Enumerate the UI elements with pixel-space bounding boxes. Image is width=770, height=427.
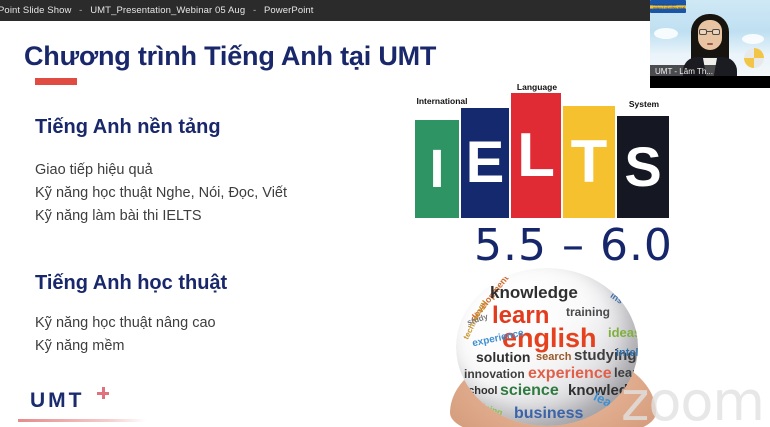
word-cloud-word: ins (609, 291, 625, 306)
eyeglasses-left-lens-icon (699, 29, 707, 35)
umt-logo-text: UMT (30, 389, 85, 413)
participant-mouth (707, 43, 713, 45)
umt-plus-icon (97, 387, 109, 399)
video-tile-bottom-bar (650, 76, 770, 88)
ielts-letter-block-l: L (511, 93, 561, 218)
word-cloud-word: innovation (464, 368, 525, 380)
taskbar-file-name: UMT_Presentation_Webinar 05 Aug (90, 5, 245, 16)
word-cloud-word: science (500, 383, 559, 399)
bullet-item: Giao tiếp hiệu quả (35, 159, 287, 182)
cloud-shape (742, 34, 764, 44)
taskbar-app-name: PowerPoint (264, 5, 314, 16)
screen-root: Point Slide Show - UMT_Presentation_Webi… (0, 0, 770, 427)
ielts-caption-language: Language (501, 82, 573, 92)
virtual-background-left-banner: TRƯỜNG ĐẠI HỌC QUẢN LÝ VÀ CÔNG NGHỆ (653, 4, 685, 10)
word-cloud-word: training (566, 306, 610, 318)
word-cloud-word: business (514, 406, 583, 422)
zoom-participant-video-tile[interactable]: TRƯỜNG ĐẠI HỌC QUẢN LÝ VÀ CÔNG NGHỆ UMT … (650, 0, 770, 88)
taskbar-app-window-prefix: Point Slide Show (0, 5, 71, 16)
zoom-watermark: zoom (621, 370, 764, 427)
section-bullets-foundation: Giao tiếp hiệu quả Kỹ năng học thuật Ngh… (35, 159, 287, 228)
bullet-item: Kỹ năng làm bài thi IELTS (35, 205, 287, 228)
bullet-item: Kỹ năng mềm (35, 335, 216, 358)
bullet-item: Kỹ năng học thuật Nghe, Nói, Đọc, Viết (35, 182, 287, 205)
participant-face (698, 20, 722, 50)
eyeglasses-bridge-icon (707, 31, 712, 32)
word-cloud-word: solution (476, 350, 530, 364)
globe-sphere: development technology knowledge ins lea… (456, 268, 638, 426)
ielts-letter-block-e: E (461, 108, 509, 218)
word-cloud-word: school (462, 386, 497, 397)
ielts-letter-block-i: I (415, 120, 459, 218)
word-cloud-word: experience (528, 366, 612, 382)
ielts-score-range: 5.5 – 6.0 (474, 220, 673, 271)
section-bullets-academic: Kỹ năng học thuật nâng cao Kỹ năng mềm (35, 312, 216, 358)
decorative-ball (744, 48, 764, 68)
word-cloud-word: search (536, 352, 571, 363)
cloud-shape (654, 28, 678, 39)
word-cloud-word: knowledge (490, 284, 578, 301)
umt-logo-underline (18, 419, 146, 422)
title-accent-rule (35, 78, 77, 85)
ielts-letter-block-t: T (563, 106, 615, 218)
ielts-letter-block-s: S (617, 116, 669, 218)
eyeglasses-right-lens-icon (712, 29, 720, 35)
ielts-caption-system: System (611, 99, 677, 109)
taskbar-window-title[interactable]: Point Slide Show - UMT_Presentation_Webi… (0, 5, 314, 16)
slide-title: Chương trình Tiếng Anh tại UMT (24, 41, 436, 72)
word-cloud-word: intelli (616, 348, 638, 359)
ielts-logo-graphic: International Language System English Te… (413, 93, 703, 218)
word-cloud-word: ideas (608, 326, 638, 339)
bullet-item: Kỹ năng học thuật nâng cao (35, 312, 216, 335)
taskbar-separator-2: - (248, 5, 261, 16)
taskbar-separator-1: - (74, 5, 87, 16)
section-heading-foundation: Tiếng Anh nền tảng (35, 116, 221, 139)
ielts-caption-international: International (410, 96, 474, 106)
section-heading-academic: Tiếng Anh học thuật (35, 272, 227, 295)
